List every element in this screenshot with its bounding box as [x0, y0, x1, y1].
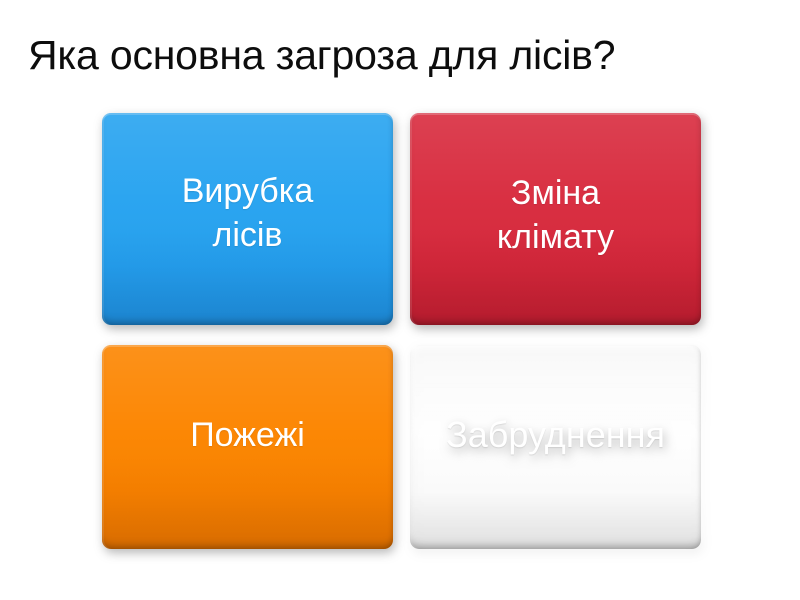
answer-option-1[interactable]: Вирубка лісів	[102, 113, 393, 325]
answer-option-1-label: Вирубка лісів	[174, 169, 322, 257]
question-title: Яка основна загроза для лісів?	[28, 27, 788, 83]
quiz-screen: Яка основна загроза для лісів? Вирубка л…	[0, 0, 800, 600]
answer-option-3[interactable]: Пожежі	[102, 345, 393, 549]
answer-option-2[interactable]: Зміна клімату	[410, 113, 701, 325]
answer-option-4[interactable]: Забруднення	[410, 345, 701, 549]
answer-option-2-label: Зміна клімату	[489, 171, 622, 259]
answer-option-4-label: Забруднення	[438, 413, 673, 457]
answer-options-grid: Вирубка лісів Зміна клімату Пожежі Забру…	[102, 113, 700, 549]
answer-option-3-label: Пожежі	[182, 413, 313, 457]
